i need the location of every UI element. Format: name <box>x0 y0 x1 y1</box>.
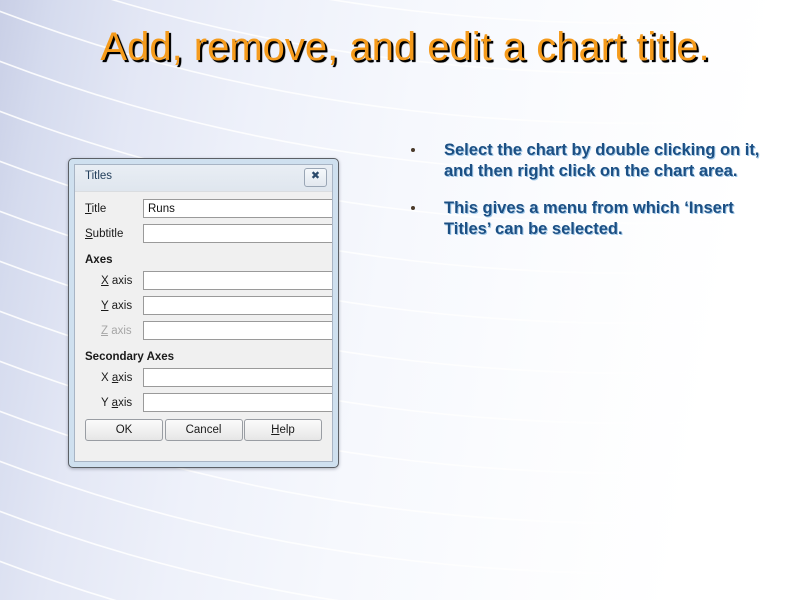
subtitle-input[interactable] <box>143 224 333 243</box>
label-z-axis: Z axis <box>101 325 132 337</box>
field-row-subtitle: Subtitle <box>85 223 322 248</box>
close-icon[interactable]: ✖ <box>304 168 327 187</box>
list-item: This gives a menu from which ‘Insert Tit… <box>406 198 776 240</box>
x-axis-input[interactable] <box>143 271 333 290</box>
z-axis-input[interactable] <box>143 321 333 340</box>
titles-dialog-frame: Titles ✖ Title Subtitle Axes X axis <box>68 158 339 468</box>
cancel-button[interactable]: Cancel <box>165 419 243 441</box>
label-secondary-y-axis: Y axis <box>101 397 132 409</box>
dialog-titlebar: Titles ✖ <box>75 165 332 192</box>
field-row-secondary-y-axis: Y axis <box>85 392 322 417</box>
bullet-dot-icon <box>411 206 415 210</box>
ok-button[interactable]: OK <box>85 419 163 441</box>
section-heading-secondary-axes: Secondary Axes <box>85 351 322 363</box>
secondary-x-axis-input[interactable] <box>143 368 333 387</box>
slide-title: Add, remove, and edit a chart title. <box>60 22 750 72</box>
secondary-y-axis-input[interactable] <box>143 393 333 412</box>
label-y-axis: Y axis <box>101 300 132 312</box>
help-button[interactable]: Help <box>244 419 322 441</box>
field-row-x-axis: X axis <box>85 270 322 295</box>
field-row-y-axis: Y axis <box>85 295 322 320</box>
label-secondary-x-axis: X axis <box>101 372 132 384</box>
bullet-dot-icon <box>411 148 415 152</box>
title-input[interactable] <box>143 199 333 218</box>
label-title: Title <box>85 203 106 215</box>
slide-canvas: Add, remove, and edit a chart title. Sel… <box>0 0 800 600</box>
bullet-list: Select the chart by double clicking on i… <box>406 140 776 256</box>
dialog-body: Title Subtitle Axes X axis Y axis <box>75 192 332 461</box>
list-item: Select the chart by double clicking on i… <box>406 140 776 182</box>
titles-dialog: Titles ✖ Title Subtitle Axes X axis <box>74 164 333 462</box>
field-row-title: Title <box>85 198 322 223</box>
label-subtitle: Subtitle <box>85 228 123 240</box>
bullet-text: Select the chart by double clicking on i… <box>444 140 776 182</box>
y-axis-input[interactable] <box>143 296 333 315</box>
label-x-axis: X axis <box>101 275 132 287</box>
field-row-secondary-x-axis: X axis <box>85 367 322 392</box>
field-row-z-axis: Z axis <box>85 320 322 345</box>
dialog-title: Titles <box>85 170 112 182</box>
dialog-button-row: OK Cancel Help <box>85 419 322 441</box>
section-heading-axes: Axes <box>85 254 322 266</box>
bullet-text: This gives a menu from which ‘Insert Tit… <box>444 198 776 240</box>
